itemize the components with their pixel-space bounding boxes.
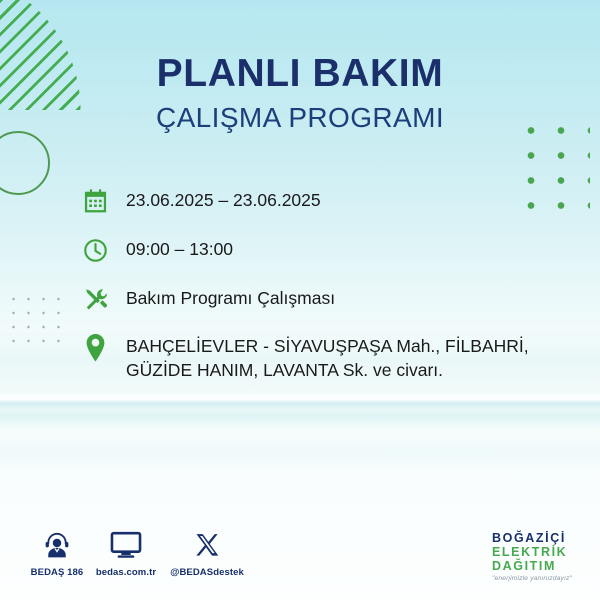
- info-row-time-text: 09:00 – 13:00: [126, 235, 550, 261]
- footer-label-x: @BEDASdestek: [158, 567, 256, 578]
- clock-icon: [80, 235, 110, 265]
- page-title: PLANLI BAKIM: [0, 54, 600, 95]
- footer-item-x[interactable]: @BEDASdestek: [158, 528, 256, 578]
- footer-item-website[interactable]: bedas.com.tr: [84, 528, 168, 578]
- x-twitter-icon: [158, 528, 256, 562]
- bedas-logo: BOĞAZİÇİ ELEKTRİK DAĞITIM "enerjimizle y…: [492, 531, 590, 582]
- logo-tagline: "enerjimizle yanınızdayız": [492, 575, 590, 582]
- info-row-address-text: BAHÇELİEVLER - SİYAVUŞPAŞA Mah., FİLBAHR…: [126, 333, 550, 382]
- dot-grid-left-decoration: [6, 292, 62, 348]
- logo-line-dagitim: DAĞITIM: [492, 559, 590, 573]
- page-subtitle: ÇALIŞMA PROGRAMI: [0, 100, 600, 135]
- footer-label-website: bedas.com.tr: [84, 567, 168, 578]
- logo-line-elektrik: ELEKTRİK: [492, 545, 590, 559]
- circle-outline-decoration: [0, 131, 50, 195]
- info-row-worktype: Bakım Programı Çalışması: [80, 284, 550, 314]
- title-block: PLANLI BAKIM ÇALIŞMA PROGRAMI: [0, 54, 600, 135]
- info-list: 23.06.2025 – 23.06.2025 09:00 – 13:00: [80, 186, 550, 382]
- wave-band-top: [0, 392, 600, 410]
- poster-canvas: PLANLI BAKIM ÇALIŞMA PROGRAMI: [0, 0, 600, 600]
- wave-band-bottom: [0, 432, 600, 472]
- info-row-date-text: 23.06.2025 – 23.06.2025: [126, 186, 550, 212]
- calendar-icon: [80, 186, 110, 216]
- info-row-worktype-text: Bakım Programı Çalışması: [126, 284, 550, 310]
- wave-band-middle: [0, 404, 600, 430]
- monitor-icon: [84, 528, 168, 562]
- info-row-date: 23.06.2025 – 23.06.2025: [80, 186, 550, 216]
- location-pin-icon: [80, 333, 110, 363]
- tools-icon: [80, 284, 110, 314]
- logo-line-bogazici: BOĞAZİÇİ: [492, 531, 590, 545]
- info-row-time: 09:00 – 13:00: [80, 235, 550, 265]
- info-row-address: BAHÇELİEVLER - SİYAVUŞPAŞA Mah., FİLBAHR…: [80, 333, 550, 382]
